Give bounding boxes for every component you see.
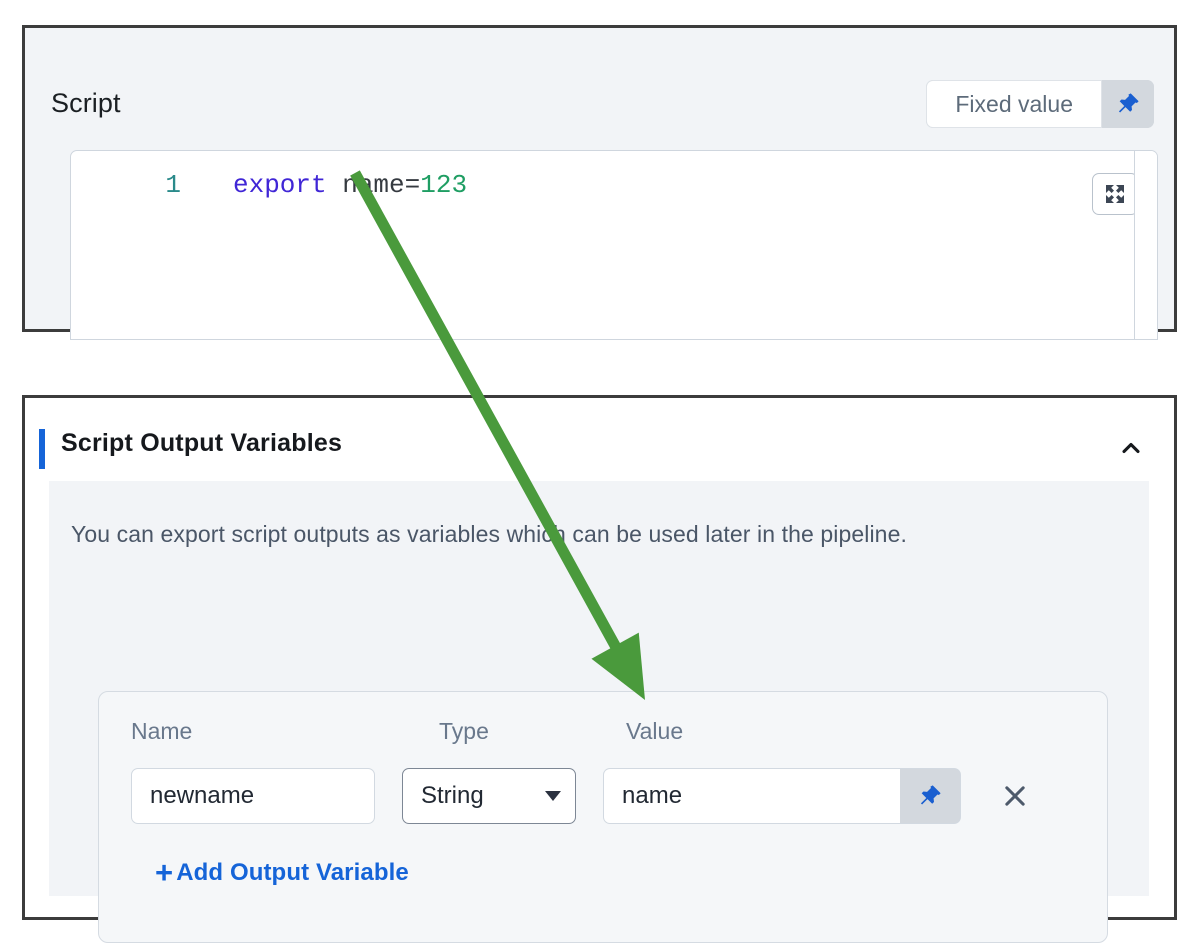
chevron-down-icon (545, 791, 561, 801)
variable-type-value: String (421, 782, 545, 810)
column-header-type: Type (439, 718, 489, 745)
variable-type-select[interactable]: String (402, 768, 576, 824)
fixed-value-control[interactable]: Fixed value (926, 80, 1154, 128)
code-line-1: 1 export name=123 (71, 167, 467, 203)
pin-icon[interactable] (1102, 80, 1154, 128)
script-panel: Script Fixed value 1 export name=123 (22, 25, 1177, 332)
pin-icon[interactable] (900, 769, 960, 823)
variables-card: Name Type Value newname String name (98, 691, 1108, 943)
section-header: Script Output Variables (25, 423, 1174, 479)
script-output-variables-panel: Script Output Variables You can export s… (22, 395, 1177, 920)
column-header-value: Value (626, 718, 683, 745)
code-token-keyword: export (233, 170, 327, 200)
variable-value-control: name (603, 768, 961, 824)
expand-arrows-icon[interactable] (1092, 173, 1138, 215)
variable-name-input[interactable]: newname (131, 768, 375, 824)
plus-icon: + (155, 857, 173, 888)
code-token-number: 123 (420, 170, 467, 200)
code-token-variable: name= (327, 170, 421, 200)
line-number: 1 (71, 170, 181, 200)
help-text: You can export script outputs as variabl… (71, 521, 907, 548)
page-title: Script (51, 88, 121, 119)
section-title: Script Output Variables (61, 429, 342, 458)
code-editor[interactable]: 1 export name=123 (70, 150, 1158, 340)
script-panel-header: Script Fixed value (51, 80, 1154, 128)
remove-variable-button[interactable] (995, 776, 1035, 816)
output-variables-body: You can export script outputs as variabl… (49, 481, 1149, 896)
editor-scrollbar[interactable] (1134, 151, 1157, 339)
add-output-variable-button[interactable]: + Add Output Variable (155, 857, 409, 888)
section-accent-bar (39, 429, 45, 469)
code-content: export name=123 (181, 170, 467, 200)
variable-value-input[interactable]: name (604, 769, 900, 823)
chevron-up-icon[interactable] (1116, 433, 1146, 463)
fixed-value-button[interactable]: Fixed value (926, 80, 1102, 128)
add-output-variable-label: Add Output Variable (176, 859, 409, 887)
column-header-name: Name (131, 718, 192, 745)
